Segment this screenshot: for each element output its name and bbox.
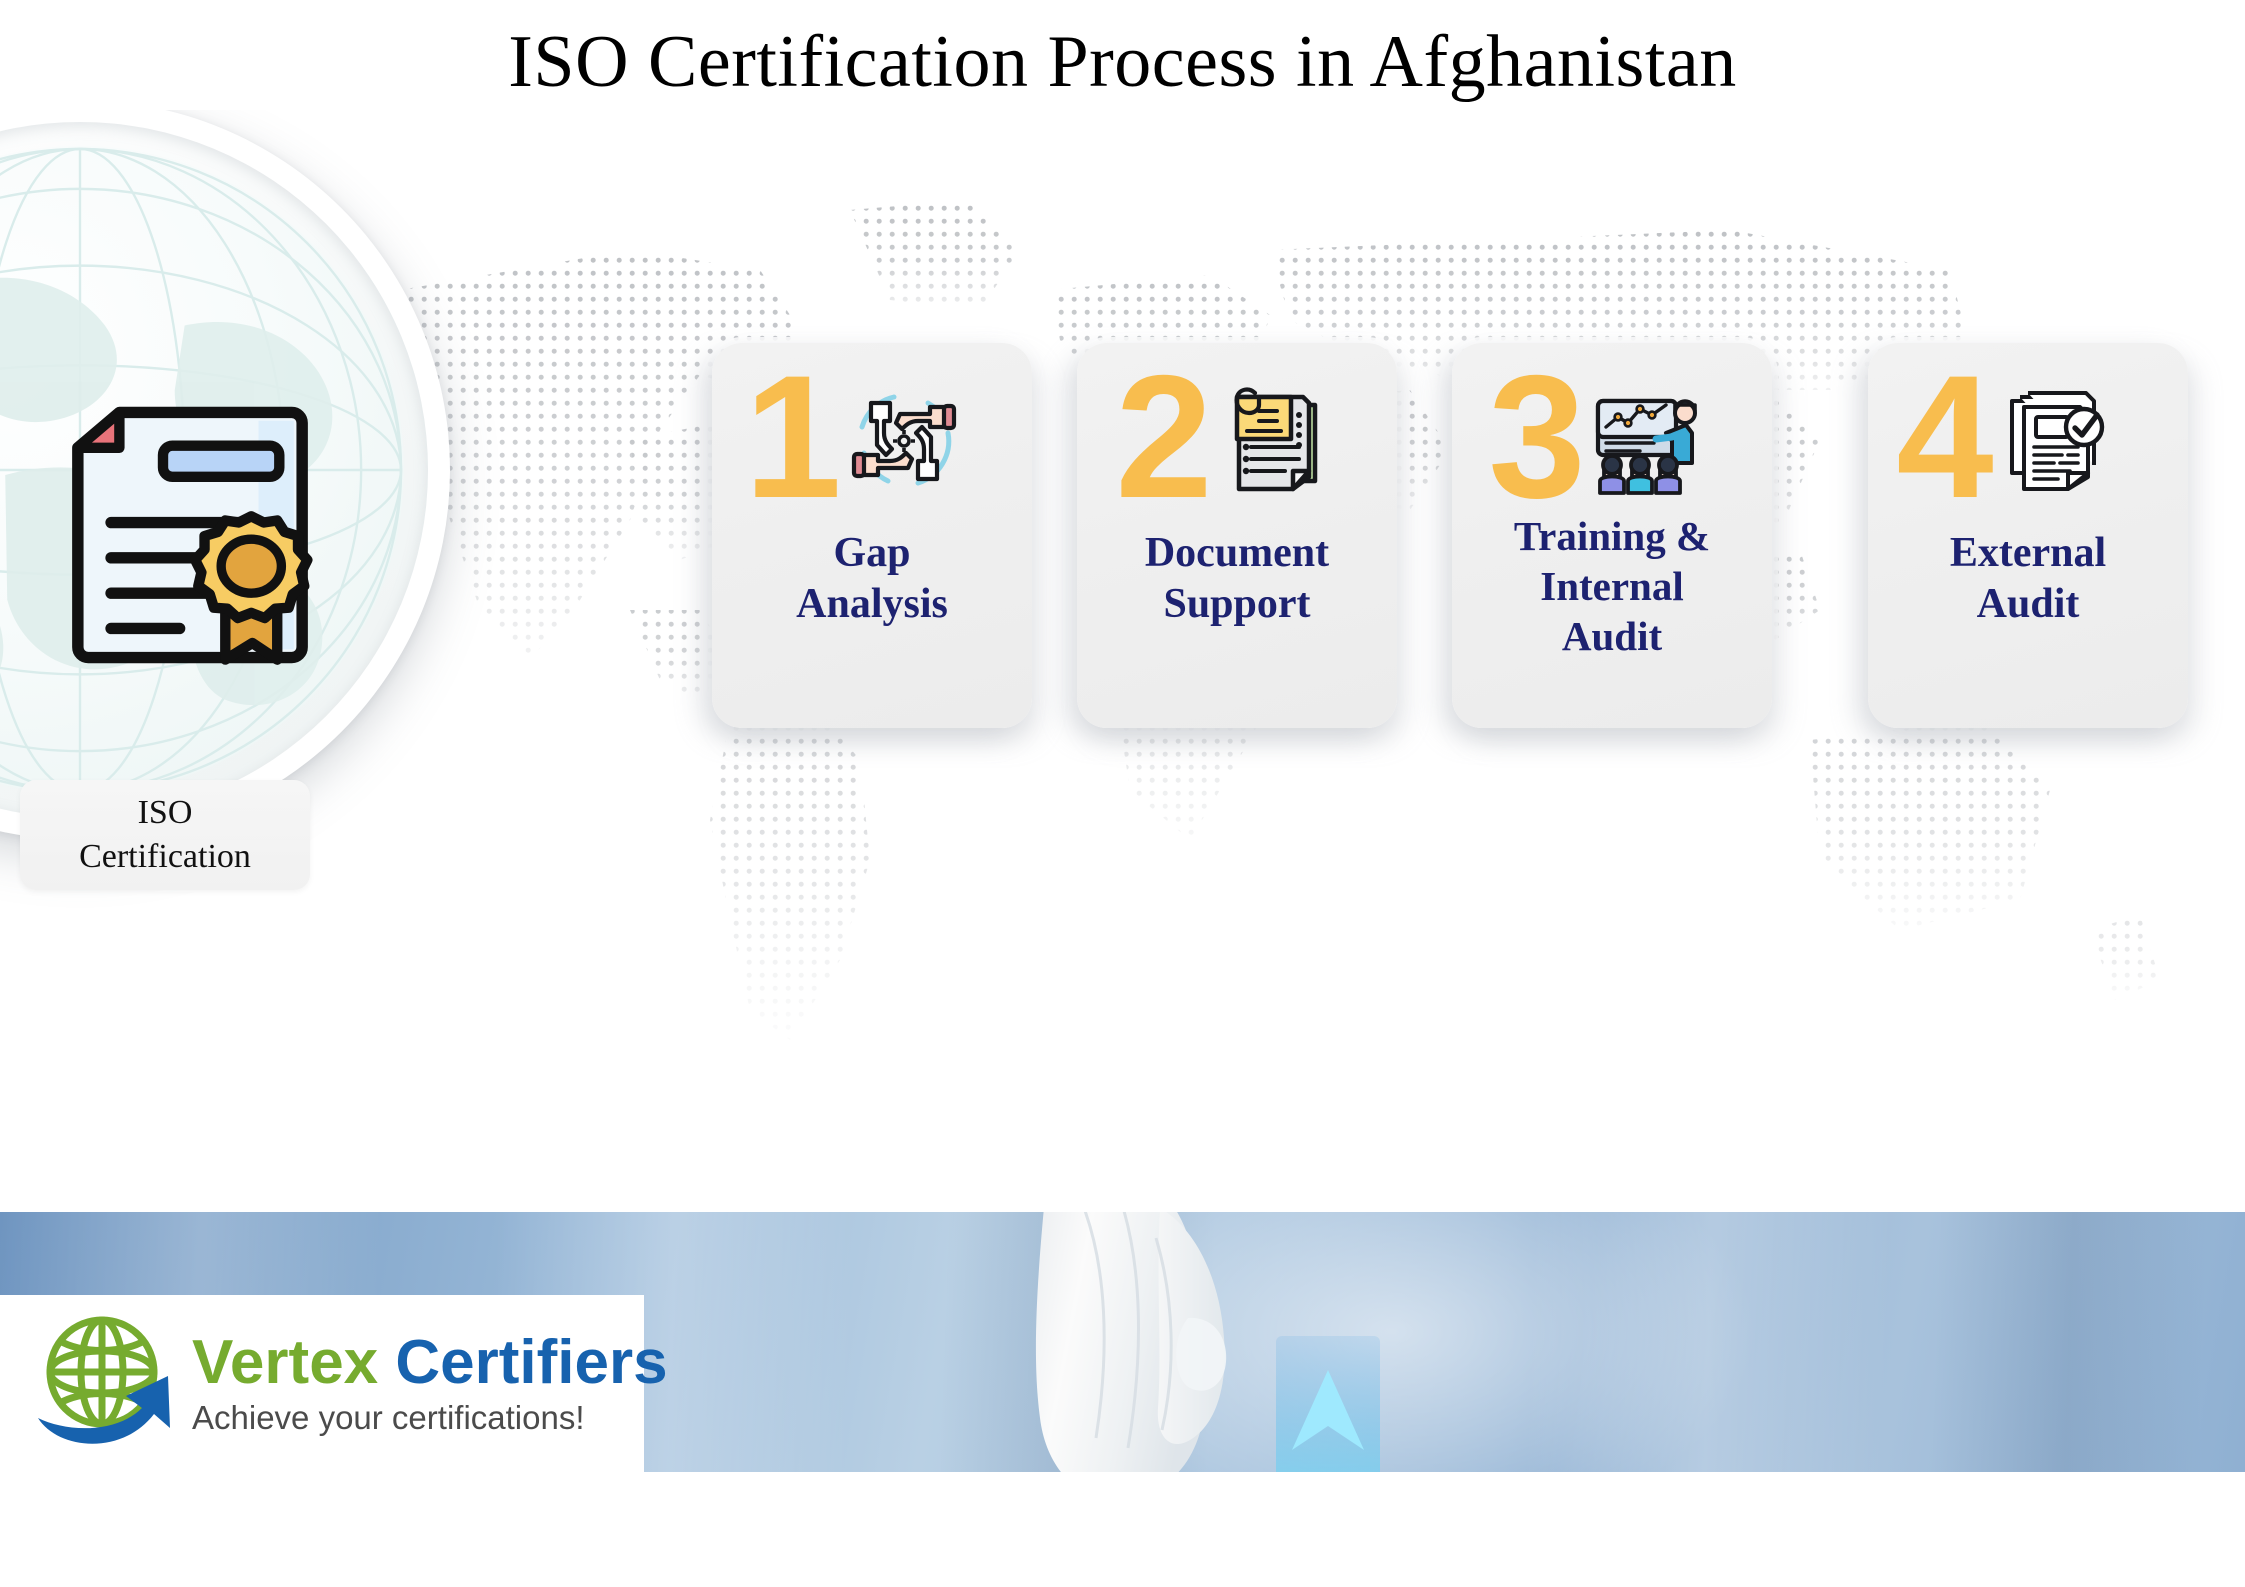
brand-name-second: Certifiers xyxy=(395,1328,667,1397)
step-2-number: 2 xyxy=(1115,357,1208,518)
step-card-3[interactable]: 3 xyxy=(1452,343,1772,728)
step-2-label: Document Support xyxy=(1087,528,1387,630)
step-card-4[interactable]: 4 xyxy=(1868,343,2188,728)
training-presentation-icon xyxy=(1588,381,1708,501)
page-header: ISO Certification Process in Afghanistan xyxy=(0,14,2245,110)
step-4-header: 4 xyxy=(1846,361,2166,521)
step-1-label: Gap Analysis xyxy=(722,528,1022,630)
step-4-label: External Audit xyxy=(1878,528,2178,630)
step-1-label-line-1: Gap xyxy=(722,528,1022,579)
step-3-number: 3 xyxy=(1488,357,1581,518)
step-1-header: 1 xyxy=(694,361,1014,521)
brand-tagline: Achieve your certifications! xyxy=(192,1399,668,1437)
step-1-label-line-2: Analysis xyxy=(722,579,1022,630)
brand-name: Vertex Certifiers xyxy=(192,1331,668,1394)
step-card-1[interactable]: 1 xyxy=(712,343,1032,728)
step-1-number: 1 xyxy=(744,357,837,518)
step-3-label-line-2: Internal xyxy=(1462,561,1762,611)
process-steps: 1 xyxy=(0,110,2245,1212)
main-stage: ISO Certification 1 xyxy=(0,110,2245,1212)
step-2-label-line-2: Support xyxy=(1087,579,1387,630)
page-title: ISO Certification Process in Afghanistan xyxy=(508,20,1736,105)
step-3-header: 3 xyxy=(1438,361,1758,521)
step-2-label-line-1: Document xyxy=(1087,528,1387,579)
teamwork-hands-icon xyxy=(844,381,964,501)
audit-checklist-check-icon xyxy=(1996,381,2116,501)
glowing-arrow-icon xyxy=(1268,1330,1388,1472)
logo-wordmark: Vertex Certifiers Achieve your certifica… xyxy=(192,1331,668,1436)
brand-name-first: Vertex xyxy=(192,1328,378,1397)
documents-paperclip-icon xyxy=(1215,381,1335,501)
step-3-label-line-1: Training & xyxy=(1462,511,1762,561)
step-4-label-line-2: Audit xyxy=(1878,579,2178,630)
step-3-label-line-3: Audit xyxy=(1462,611,1762,661)
step-card-2[interactable]: 2 xyxy=(1077,343,1397,728)
globe-arrow-logo-icon xyxy=(30,1310,178,1458)
step-3-label: Training & Internal Audit xyxy=(1462,511,1762,661)
vertex-certifiers-logo[interactable]: Vertex Certifiers Achieve your certifica… xyxy=(0,1295,644,1473)
step-2-header: 2 xyxy=(1065,361,1385,521)
step-4-number: 4 xyxy=(1896,357,1989,518)
step-4-label-line-1: External xyxy=(1878,528,2178,579)
